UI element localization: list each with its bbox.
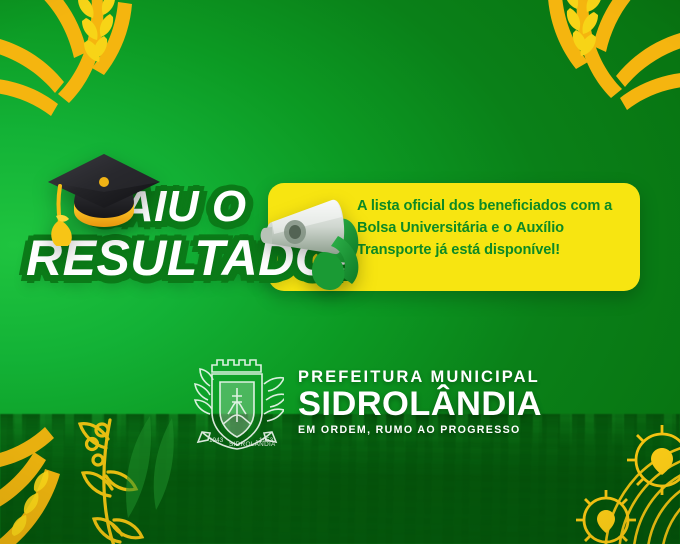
logo-line-2: SIDROLÂNDIA	[298, 387, 542, 422]
wheat-stalks-icon	[0, 0, 222, 124]
crest-year-left: 1943	[209, 437, 224, 444]
logo-line-1: PREFEITURA MUNICIPAL	[298, 368, 542, 386]
logo-line-3: EM ORDEM, RUMO AO PROGRESSO	[298, 425, 542, 437]
callout-text: A lista oficial dos beneficiados com a B…	[357, 196, 625, 262]
callout-part3: já está disponível!	[431, 242, 560, 258]
callout-part2: e o	[487, 220, 516, 236]
megaphone-icon	[258, 186, 368, 290]
footer-logo: 1943 SIDROLÂNDIA 1953 PREFEITURA MUNICIP…	[190, 352, 542, 452]
crest-year-right: 1953	[259, 437, 274, 444]
sidrolandia-coat-of-arms-icon: 1943 SIDROLÂNDIA 1953	[190, 352, 284, 452]
poster-canvas: A lista oficial dos beneficiados com a B…	[0, 0, 680, 544]
callout-part1: A lista oficial dos beneficiados com a	[357, 198, 612, 214]
graduation-cap-icon	[38, 142, 164, 246]
wheat-stalks-icon	[464, 0, 680, 118]
callout-strong1: Bolsa Universitária	[357, 220, 487, 236]
